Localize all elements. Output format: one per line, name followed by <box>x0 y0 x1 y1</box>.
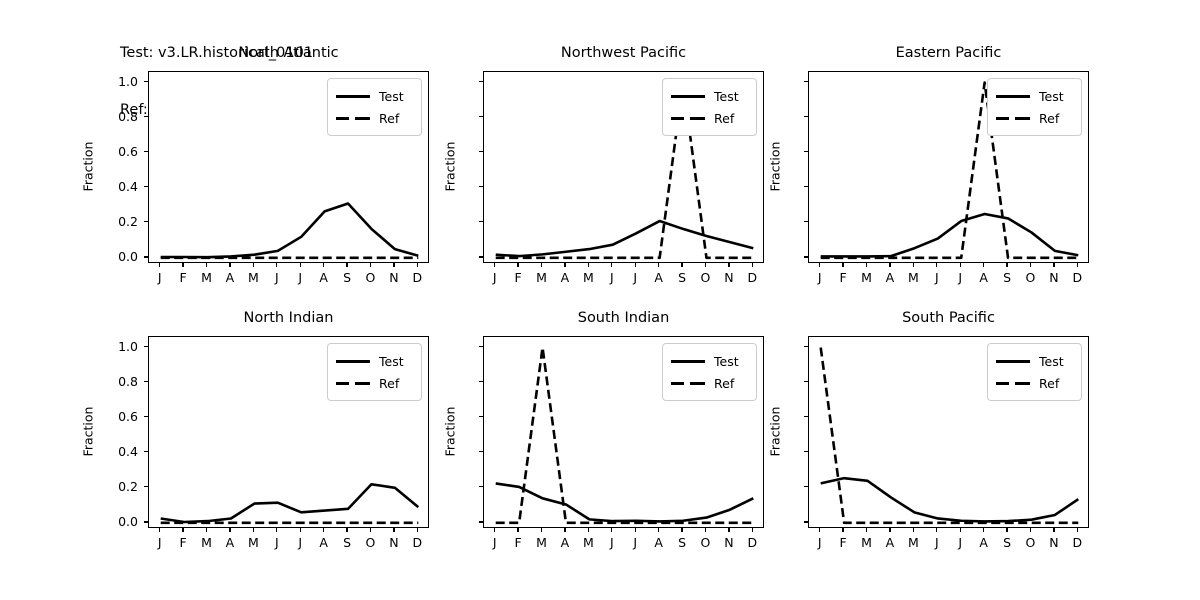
series-line-test <box>161 484 419 522</box>
y-tick-mark <box>479 151 483 152</box>
legend-swatch-solid-icon <box>336 354 370 368</box>
y-tick-mark <box>804 486 808 487</box>
legend-swatch-dashed-icon <box>996 111 1030 125</box>
y-axis-label: Fraction <box>443 127 458 207</box>
x-tick-mark <box>913 528 914 532</box>
x-tick-mark <box>635 528 636 532</box>
legend-label: Ref <box>379 376 399 391</box>
legend-entry-test: Test <box>671 350 748 372</box>
subplot-eastern-pacific: Eastern PacificTestRefJFMAMJJASONDFracti… <box>748 45 1089 293</box>
legend-swatch-dashed-icon <box>996 376 1030 390</box>
series-line-test <box>496 483 754 521</box>
x-tick-mark <box>819 528 820 532</box>
x-tick-mark <box>370 263 371 267</box>
y-tick-mark <box>804 451 808 452</box>
x-tick-mark <box>1006 528 1007 532</box>
y-tick-mark <box>479 221 483 222</box>
y-tick-label: 0.0 <box>88 514 138 529</box>
legend-label: Ref <box>379 111 399 126</box>
legend-entry-test: Test <box>671 85 748 107</box>
x-tick-mark <box>276 528 277 532</box>
y-tick-label: 0.6 <box>88 144 138 159</box>
legend-entry-ref: Ref <box>336 372 413 394</box>
x-tick-label: D <box>1062 535 1092 550</box>
y-axis-label: Fraction <box>768 392 783 472</box>
y-axis-label: Fraction <box>81 392 96 472</box>
legend[interactable]: TestRef <box>987 78 1082 136</box>
series-line-test <box>821 214 1079 256</box>
y-tick-mark <box>144 186 148 187</box>
y-tick-mark <box>804 346 808 347</box>
y-tick-mark <box>804 381 808 382</box>
y-tick-label: 0.0 <box>88 249 138 264</box>
y-axis-label: Fraction <box>443 392 458 472</box>
y-tick-mark <box>144 521 148 522</box>
x-tick-mark <box>346 263 347 267</box>
x-tick-mark <box>705 263 706 267</box>
legend[interactable]: TestRef <box>662 78 757 136</box>
x-tick-mark <box>541 528 542 532</box>
y-tick-mark <box>479 451 483 452</box>
plot-area: TestRef <box>148 336 429 528</box>
x-tick-mark <box>159 528 160 532</box>
x-tick-mark <box>253 263 254 267</box>
x-tick-mark <box>936 528 937 532</box>
x-tick-mark <box>517 263 518 267</box>
y-tick-label: 0.2 <box>88 214 138 229</box>
y-tick-mark <box>804 416 808 417</box>
legend-swatch-solid-icon <box>671 354 705 368</box>
legend-label: Ref <box>714 376 734 391</box>
y-tick-mark <box>479 81 483 82</box>
x-tick-mark <box>1053 528 1054 532</box>
x-tick-mark <box>253 528 254 532</box>
x-tick-mark <box>1077 263 1078 267</box>
x-tick-mark <box>229 528 230 532</box>
legend-entry-ref: Ref <box>996 372 1073 394</box>
subplot-south-indian: South IndianTestRefJFMAMJJASONDFraction <box>423 310 764 558</box>
x-tick-mark <box>635 263 636 267</box>
legend-entry-ref: Ref <box>336 107 413 129</box>
subplot-south-pacific: South PacificTestRefJFMAMJJASONDFraction <box>748 310 1089 558</box>
x-tick-mark <box>681 528 682 532</box>
y-tick-label: 0.4 <box>88 179 138 194</box>
figure-canvas: Test: v3.LR.historical_0101 Ref: Observa… <box>0 0 1200 600</box>
x-tick-mark <box>182 263 183 267</box>
legend-entry-ref: Ref <box>671 107 748 129</box>
x-tick-mark <box>206 263 207 267</box>
y-tick-label: 0.8 <box>88 374 138 389</box>
legend-label: Test <box>1039 89 1064 104</box>
subplot-title: Eastern Pacific <box>808 45 1089 61</box>
legend-entry-test: Test <box>336 350 413 372</box>
x-tick-mark <box>1077 528 1078 532</box>
x-tick-label: D <box>1062 270 1092 285</box>
x-tick-mark <box>866 528 867 532</box>
y-tick-mark <box>479 521 483 522</box>
subplot-title: North Indian <box>148 310 429 326</box>
y-tick-mark <box>144 221 148 222</box>
legend-swatch-solid-icon <box>671 89 705 103</box>
legend[interactable]: TestRef <box>987 343 1082 401</box>
plot-area: TestRef <box>483 71 764 263</box>
plot-area: TestRef <box>148 71 429 263</box>
legend-swatch-dashed-icon <box>336 376 370 390</box>
x-tick-mark <box>417 263 418 267</box>
x-tick-mark <box>658 528 659 532</box>
series-line-test <box>496 221 754 256</box>
legend-entry-ref: Ref <box>671 372 748 394</box>
y-tick-label: 0.4 <box>88 444 138 459</box>
subplot-title: South Indian <box>483 310 764 326</box>
x-tick-mark <box>494 528 495 532</box>
x-tick-mark <box>819 263 820 267</box>
y-tick-mark <box>144 151 148 152</box>
subplot-title: Northwest Pacific <box>483 45 764 61</box>
legend[interactable]: TestRef <box>662 343 757 401</box>
subplot-northwest-pacific: Northwest PacificTestRefJFMAMJJASONDFrac… <box>423 45 764 293</box>
y-tick-mark <box>479 116 483 117</box>
x-tick-mark <box>588 263 589 267</box>
x-tick-mark <box>588 528 589 532</box>
legend-label: Test <box>1039 354 1064 369</box>
y-tick-mark <box>144 486 148 487</box>
subplot-north-indian: North IndianTestRef0.00.20.40.60.81.0JFM… <box>88 310 429 558</box>
legend-label: Test <box>714 354 739 369</box>
plot-area: TestRef <box>808 336 1089 528</box>
x-tick-mark <box>323 263 324 267</box>
x-tick-mark <box>611 263 612 267</box>
y-tick-label: 0.6 <box>88 409 138 424</box>
y-tick-mark <box>479 256 483 257</box>
x-tick-mark <box>370 528 371 532</box>
legend[interactable]: TestRef <box>327 343 422 401</box>
x-tick-mark <box>1053 263 1054 267</box>
x-tick-mark <box>346 528 347 532</box>
y-tick-label: 1.0 <box>88 74 138 89</box>
x-tick-mark <box>517 528 518 532</box>
y-tick-mark <box>804 521 808 522</box>
x-tick-mark <box>1030 528 1031 532</box>
legend-swatch-dashed-icon <box>671 376 705 390</box>
y-tick-mark <box>479 416 483 417</box>
x-tick-mark <box>159 263 160 267</box>
y-tick-mark <box>479 346 483 347</box>
x-tick-mark <box>728 528 729 532</box>
x-tick-mark <box>866 263 867 267</box>
legend-swatch-dashed-icon <box>336 111 370 125</box>
subplot-north-atlantic: North AtlanticTestRef0.00.20.40.60.81.0J… <box>88 45 429 293</box>
y-tick-label: 0.8 <box>88 109 138 124</box>
x-tick-mark <box>1006 263 1007 267</box>
y-tick-mark <box>804 116 808 117</box>
y-axis-label: Fraction <box>81 127 96 207</box>
legend-label: Test <box>379 354 404 369</box>
x-tick-mark <box>564 528 565 532</box>
legend-label: Test <box>379 89 404 104</box>
legend-swatch-solid-icon <box>996 354 1030 368</box>
x-tick-mark <box>658 263 659 267</box>
legend-label: Ref <box>714 111 734 126</box>
legend-label: Ref <box>1039 111 1059 126</box>
y-tick-label: 0.2 <box>88 479 138 494</box>
x-tick-mark <box>300 528 301 532</box>
y-tick-mark <box>804 256 808 257</box>
x-tick-mark <box>681 263 682 267</box>
legend-swatch-solid-icon <box>336 89 370 103</box>
x-tick-mark <box>417 528 418 532</box>
y-tick-mark <box>144 256 148 257</box>
legend-swatch-solid-icon <box>996 89 1030 103</box>
y-tick-mark <box>804 81 808 82</box>
x-tick-mark <box>564 263 565 267</box>
legend[interactable]: TestRef <box>327 78 422 136</box>
y-tick-mark <box>144 81 148 82</box>
y-tick-mark <box>804 186 808 187</box>
y-tick-mark <box>804 221 808 222</box>
x-tick-mark <box>300 263 301 267</box>
x-tick-mark <box>983 528 984 532</box>
x-tick-mark <box>393 263 394 267</box>
subplot-title: North Atlantic <box>148 45 429 61</box>
x-tick-mark <box>323 528 324 532</box>
legend-entry-test: Test <box>996 350 1073 372</box>
x-tick-mark <box>206 528 207 532</box>
x-tick-mark <box>276 263 277 267</box>
legend-label: Ref <box>1039 376 1059 391</box>
x-tick-mark <box>936 263 937 267</box>
x-tick-mark <box>494 263 495 267</box>
x-tick-mark <box>611 528 612 532</box>
plot-area: TestRef <box>483 336 764 528</box>
x-tick-mark <box>913 263 914 267</box>
x-tick-mark <box>393 528 394 532</box>
x-tick-mark <box>960 263 961 267</box>
x-tick-mark <box>889 528 890 532</box>
legend-label: Test <box>714 89 739 104</box>
x-tick-mark <box>541 263 542 267</box>
y-tick-label: 1.0 <box>88 339 138 354</box>
x-tick-mark <box>1030 263 1031 267</box>
y-tick-mark <box>479 486 483 487</box>
y-tick-mark <box>144 381 148 382</box>
plot-area: TestRef <box>808 71 1089 263</box>
y-axis-label: Fraction <box>768 127 783 207</box>
x-tick-mark <box>728 263 729 267</box>
series-line-test <box>821 478 1079 521</box>
x-tick-mark <box>842 528 843 532</box>
series-line-test <box>161 204 419 258</box>
y-tick-mark <box>479 186 483 187</box>
legend-entry-test: Test <box>336 85 413 107</box>
x-tick-mark <box>229 263 230 267</box>
x-tick-mark <box>983 263 984 267</box>
legend-swatch-dashed-icon <box>671 111 705 125</box>
y-tick-mark <box>144 346 148 347</box>
legend-entry-test: Test <box>996 85 1073 107</box>
x-tick-mark <box>960 528 961 532</box>
y-tick-mark <box>144 416 148 417</box>
x-tick-mark <box>182 528 183 532</box>
y-tick-mark <box>479 381 483 382</box>
x-tick-mark <box>842 263 843 267</box>
y-tick-mark <box>144 451 148 452</box>
x-tick-mark <box>705 528 706 532</box>
x-tick-mark <box>889 263 890 267</box>
y-tick-mark <box>144 116 148 117</box>
legend-entry-ref: Ref <box>996 107 1073 129</box>
y-tick-mark <box>804 151 808 152</box>
subplot-title: South Pacific <box>808 310 1089 326</box>
